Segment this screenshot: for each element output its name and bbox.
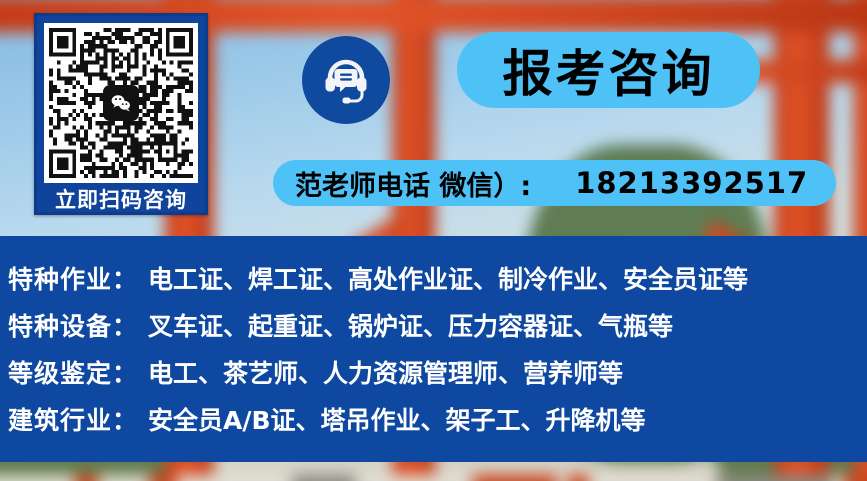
ground-strip: [0, 475, 867, 481]
category-row: 特种设备： 叉车证、起重证、锅炉证、压力容器证、气瓶等: [0, 303, 867, 350]
category-value: 叉车证、起重证、锅炉证、压力容器证、气瓶等: [148, 303, 673, 350]
qr-caption: 立即扫码咨询: [44, 183, 198, 217]
qr-code-panel[interactable]: 立即扫码咨询: [34, 13, 208, 215]
category-label: 特种作业：: [8, 256, 138, 303]
category-label: 建筑行业：: [8, 397, 138, 444]
consultation-title-pill[interactable]: 报考咨询: [457, 32, 760, 108]
headset-support-icon[interactable]: [302, 36, 390, 124]
category-label: 等级鉴定：: [8, 350, 138, 397]
consultation-title: 报考咨询: [503, 34, 715, 106]
certificate-category-band: 特种作业： 电工证、焊工证、高处作业证、制冷作业、安全员证等 特种设备： 叉车证…: [0, 236, 867, 462]
wechat-icon: [103, 85, 139, 121]
category-label: 特种设备：: [8, 303, 138, 350]
category-row: 建筑行业： 安全员A/B证、塔吊作业、架子工、升降机等: [0, 397, 867, 444]
category-row: 特种作业： 电工证、焊工证、高处作业证、制冷作业、安全员证等: [0, 256, 867, 303]
qr-code-image[interactable]: [44, 23, 198, 183]
category-row: 等级鉴定： 电工、茶艺师、人力资源管理师、营养师等: [0, 350, 867, 397]
phone-pill[interactable]: 范老师电话 微信）: 18213392517: [273, 160, 836, 206]
phone-number[interactable]: 18213392517: [575, 166, 808, 200]
category-value: 电工证、焊工证、高处作业证、制冷作业、安全员证等: [148, 256, 748, 303]
category-value: 安全员A/B证、塔吊作业、架子工、升降机等: [148, 397, 646, 444]
phone-label: 范老师电话 微信）:: [295, 164, 531, 203]
category-value: 电工、茶艺师、人力资源管理师、营养师等: [148, 350, 623, 397]
promo-poster: 立即扫码咨询 报考咨询 范老师电话 微信）: 18213392517 特种作业：…: [0, 0, 867, 481]
